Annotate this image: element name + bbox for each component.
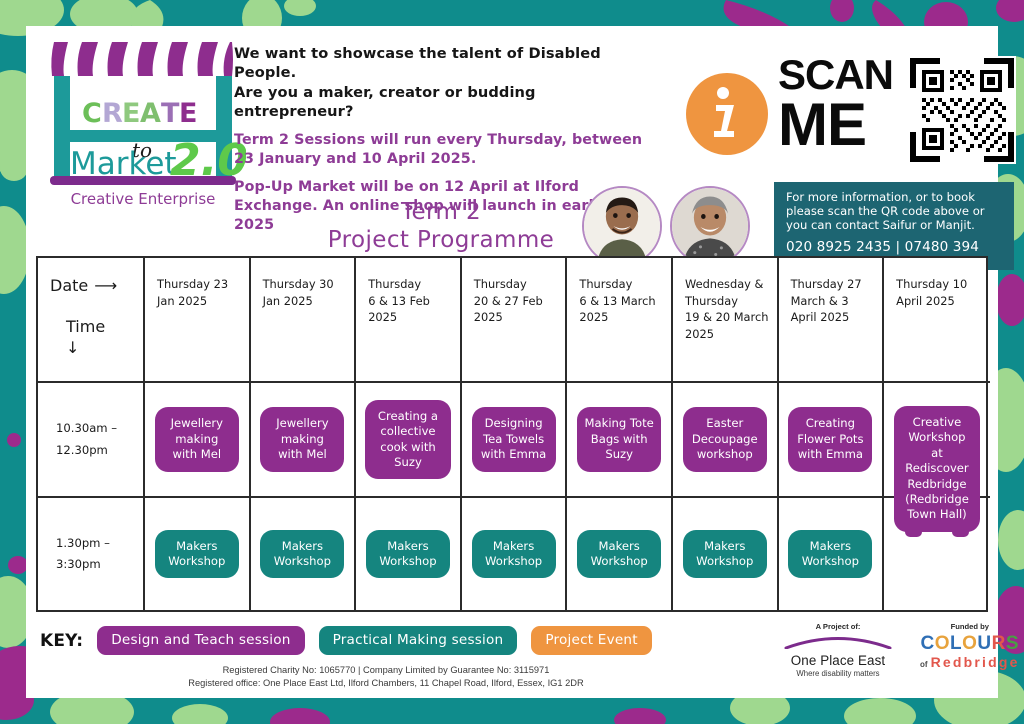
session-cell-afternoon-1: Makers Workshop: [145, 498, 249, 610]
svg-text:T: T: [161, 98, 180, 129]
timetable-column-4: Thursday20 & 27 Feb 2025 Designing Tea T…: [462, 258, 568, 610]
date-header-1: Thursday 23 Jan 2025: [145, 258, 249, 383]
session-blob-spanning[interactable]: Creative Workshop at Rediscover Redbridg…: [894, 406, 980, 532]
timetable-column-6: Wednesday &Thursday19 & 20 March 2025 Ea…: [673, 258, 779, 610]
date-label-2: Thursday 30 Jan 2025: [263, 276, 347, 309]
svg-text:Market: Market: [70, 146, 177, 182]
session-cell-morning-2: Jewellery making with Mel: [251, 383, 355, 498]
timetable-column-1: Thursday 23 Jan 2025 Jewellery making wi…: [145, 258, 251, 610]
scan-me-label: SCAN ME: [778, 56, 893, 152]
session-blob[interactable]: Making Tote Bags with Suzy: [577, 407, 661, 471]
intro-line-2: Are you a maker, creator or budding entr…: [234, 83, 654, 122]
session-blob[interactable]: Designing Tea Towels with Emma: [472, 407, 556, 471]
term-note: Term 2 Sessions will run every Thursday,…: [234, 131, 654, 169]
avatar-saifur: [582, 186, 662, 266]
key-item-design-teach: Design and Teach session: [97, 626, 304, 655]
sponsor-logos: A Project of: One Place East Where disab…: [782, 622, 1020, 678]
date-header-4: Thursday20 & 27 Feb 2025: [462, 258, 566, 383]
svg-text:C: C: [82, 98, 103, 129]
time-cell-morning: 10.30am – 12.30pm: [38, 383, 143, 498]
timetable-column-7: Thursday 27March & 3 April 2025 Creating…: [779, 258, 885, 610]
one-place-east-arc-icon: [782, 635, 894, 649]
svg-text:A: A: [140, 98, 162, 129]
legal-line-2: Registered office: One Place East Ltd, I…: [26, 677, 746, 690]
sponsor-one-place-east: A Project of: One Place East Where disab…: [782, 622, 894, 678]
date-label-1: Thursday 23 Jan 2025: [157, 276, 241, 309]
session-cell-morning-7: Creating Flower Pots with Emma: [779, 383, 883, 498]
one-place-east-name: One Place East: [782, 653, 894, 668]
qr-code[interactable]: [908, 56, 1016, 164]
page-title: Term 2 Project Programme: [276, 198, 606, 254]
arrow-down-icon: ↓: [66, 338, 79, 357]
date-header-6: Wednesday &Thursday19 & 20 March 2025: [673, 258, 777, 383]
session-blob[interactable]: Makers Workshop: [260, 530, 344, 579]
timetable-column-2: Thursday 30 Jan 2025 Jewellery making wi…: [251, 258, 357, 610]
scan-word: SCAN: [778, 56, 893, 95]
project-of-caption: A Project of:: [782, 622, 894, 631]
info-icon: [686, 73, 768, 155]
axis-date-label: Date: [50, 276, 88, 295]
svg-text:E: E: [179, 98, 198, 129]
session-blob[interactable]: Makers Workshop: [788, 530, 872, 579]
create-to-market-logo: C R E A T E to Market 2.0 Creative Enter…: [40, 32, 246, 212]
poster-header: C R E A T E to Market 2.0 Creative Enter…: [26, 26, 998, 254]
session-blob[interactable]: Jewellery making with Mel: [155, 407, 239, 471]
session-cell-afternoon-3: Makers Workshop: [356, 498, 460, 610]
session-cell-afternoon-2: Makers Workshop: [251, 498, 355, 610]
axis-time-label-wrap: Time ↓: [66, 317, 135, 357]
session-blob[interactable]: Jewellery making with Mel: [260, 407, 344, 471]
svg-text:Creative Enterprise: Creative Enterprise: [71, 190, 216, 208]
of-word: of: [920, 660, 928, 669]
time-label-afternoon: 1.30pm – 3:30pm: [42, 533, 139, 576]
session-blob[interactable]: Makers Workshop: [155, 530, 239, 579]
date-label-8: Thursday 10 April 2025: [896, 276, 982, 309]
session-cell-afternoon-4: Makers Workshop: [462, 498, 566, 610]
axis-time-label: Time: [66, 317, 105, 336]
funded-by-caption: Funded by: [920, 622, 1020, 631]
timetable-column-3: Thursday6 & 13 Feb 2025 Creating a colle…: [356, 258, 462, 610]
session-cell-morning-3: Creating a collective cook with Suzy: [356, 383, 460, 498]
session-blob[interactable]: Easter Decoupage workshop: [683, 407, 767, 471]
avatar-manjit: [670, 186, 750, 266]
time-cell-afternoon: 1.30pm – 3:30pm: [38, 498, 143, 610]
date-label-6: Wednesday &Thursday19 & 20 March 2025: [685, 276, 769, 342]
programme-timetable: Date ⟶ Time ↓ 10.30am – 12.30pm 1.30pm –…: [36, 256, 988, 612]
sponsor-colours-of-redbridge: Funded by COLOURS of Redbridge: [920, 622, 1020, 678]
svg-text:R: R: [102, 98, 124, 129]
one-place-east-tagline: Where disability matters: [782, 669, 894, 678]
key-label: KEY:: [40, 631, 83, 651]
session-blob[interactable]: Makers Workshop: [683, 530, 767, 579]
title-line-1: Term 2: [276, 198, 606, 226]
session-cell-afternoon-6: Makers Workshop: [673, 498, 777, 610]
intro-line-1: We want to showcase the talent of Disabl…: [234, 44, 654, 83]
session-cell-morning-5: Making Tote Bags with Suzy: [567, 383, 671, 498]
date-label-5: Thursday6 & 13 March 2025: [579, 276, 663, 326]
legal-line-1: Registered Charity No: 1065770 | Company…: [26, 664, 746, 677]
date-label-4: Thursday20 & 27 Feb 2025: [474, 276, 558, 326]
session-cell-morning-1: Jewellery making with Mel: [145, 383, 249, 498]
axis-date-label-wrap: Date ⟶: [50, 276, 135, 295]
redbridge-wordmark: Redbridge: [931, 655, 1020, 669]
timetable-column-8: Thursday 10 April 2025 Creative Workshop…: [884, 258, 990, 610]
session-blob[interactable]: Makers Workshop: [577, 530, 661, 579]
axis-header-cell: Date ⟶ Time ↓: [38, 258, 143, 383]
key-item-practical-making: Practical Making session: [319, 626, 518, 655]
date-header-5: Thursday6 & 13 March 2025: [567, 258, 671, 383]
date-header-2: Thursday 30 Jan 2025: [251, 258, 355, 383]
session-blob[interactable]: Creating Flower Pots with Emma: [788, 407, 872, 471]
time-label-morning: 10.30am – 12.30pm: [42, 418, 139, 461]
key-item-project-event: Project Event: [531, 626, 651, 655]
session-cell-morning-6: Easter Decoupage workshop: [673, 383, 777, 498]
colours-wordmark: COLOURS: [920, 634, 1020, 653]
session-blob[interactable]: Creating a collective cook with Suzy: [365, 400, 451, 480]
date-label-7: Thursday 27March & 3 April 2025: [791, 276, 875, 326]
poster-sheet: C R E A T E to Market 2.0 Creative Enter…: [26, 26, 998, 698]
arrow-right-icon: ⟶: [94, 276, 117, 295]
timetable-column-5: Thursday6 & 13 March 2025 Making Tote Ba…: [567, 258, 673, 610]
legend-key: KEY: Design and Teach session Practical …: [40, 626, 652, 655]
session-blob[interactable]: Makers Workshop: [366, 530, 450, 579]
spanning-session-wrap: Creative Workshop at Rediscover Redbridg…: [884, 406, 990, 532]
date-header-7: Thursday 27March & 3 April 2025: [779, 258, 883, 383]
date-label-3: Thursday6 & 13 Feb 2025: [368, 276, 452, 326]
timetable-axis-column: Date ⟶ Time ↓ 10.30am – 12.30pm 1.30pm –…: [38, 258, 145, 610]
session-cell-afternoon-5: Makers Workshop: [567, 498, 671, 610]
date-header-8: Thursday 10 April 2025: [884, 258, 990, 383]
session-cell-morning-4: Designing Tea Towels with Emma: [462, 383, 566, 498]
me-word: ME: [778, 97, 893, 152]
footer-legal: Registered Charity No: 1065770 | Company…: [26, 664, 746, 691]
title-line-2: Project Programme: [276, 226, 606, 254]
session-blob[interactable]: Makers Workshop: [472, 530, 556, 579]
date-header-3: Thursday6 & 13 Feb 2025: [356, 258, 460, 383]
contact-blurb: For more information, or to book please …: [786, 190, 1004, 232]
svg-text:E: E: [122, 98, 141, 129]
session-cell-afternoon-7: Makers Workshop: [779, 498, 883, 610]
